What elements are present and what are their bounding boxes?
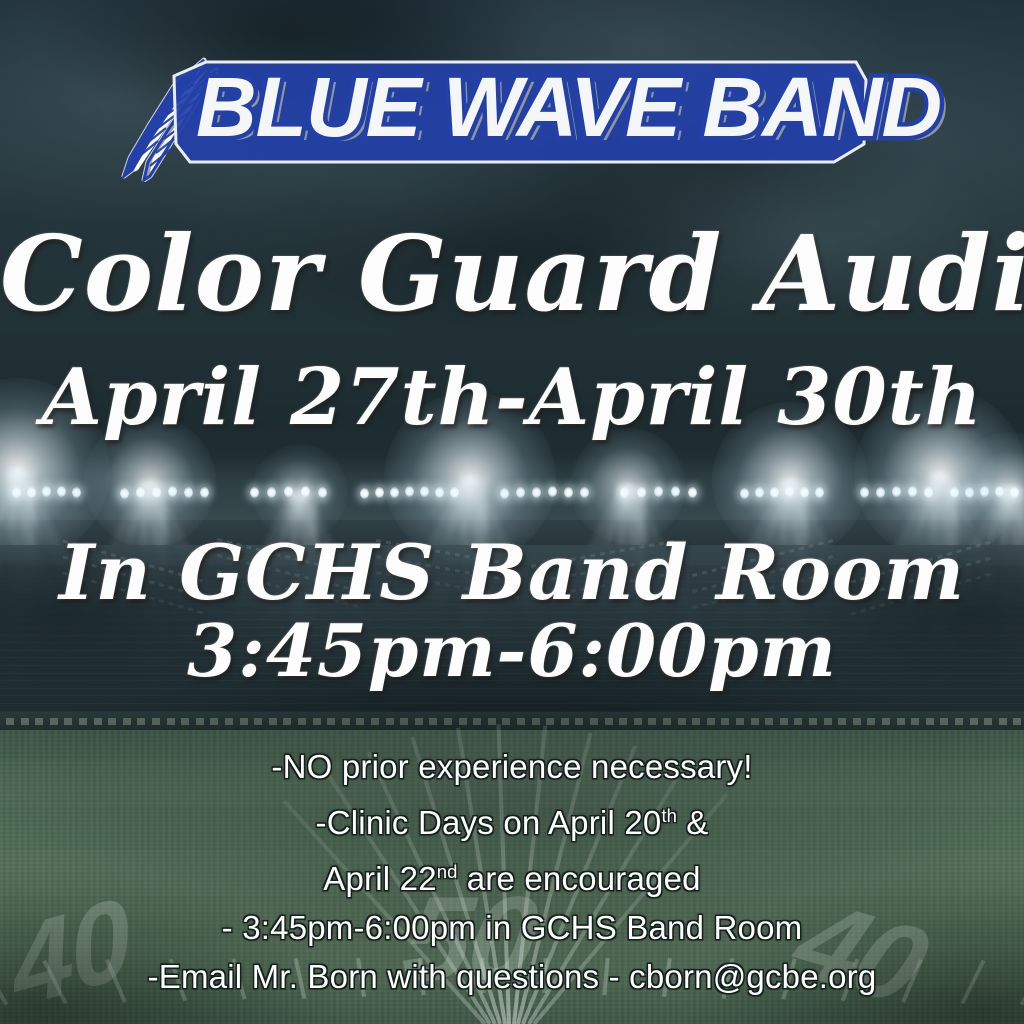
heading-dates: April 27th-April 30th — [0, 352, 1024, 443]
detail-line: -Email Mr. Born with questions - cborn@g… — [0, 952, 1024, 1001]
detail-line: -Clinic Days on April 20th & — [0, 791, 1024, 847]
heading-title: Color Guard Auditions — [0, 212, 1024, 335]
heading-location: In GCHS Band Room — [0, 528, 1024, 617]
ordinal-suffix: nd — [437, 861, 458, 882]
wordmark-text: BLUE WAVE BAND — [196, 60, 941, 154]
ordinal-suffix: th — [661, 805, 676, 826]
detail-line: -NO prior experience necessary! — [0, 742, 1024, 791]
blue-wave-band-wordmark: BLUE WAVE BAND BLUE WAVE BAND — [170, 58, 870, 168]
poster-flyer: 405040 — [0, 0, 1024, 1024]
detail-line: - 3:45pm-6:00pm in GCHS Band Room — [0, 903, 1024, 952]
detail-lines: -NO prior experience necessary!-Clinic D… — [0, 742, 1024, 1001]
blue-wave-band-logo: BLUE WAVE BAND BLUE WAVE BAND — [108, 52, 868, 177]
detail-line: April 22nd are encouraged — [0, 847, 1024, 903]
heading-time: 3:45pm-6:00pm — [0, 608, 1024, 693]
